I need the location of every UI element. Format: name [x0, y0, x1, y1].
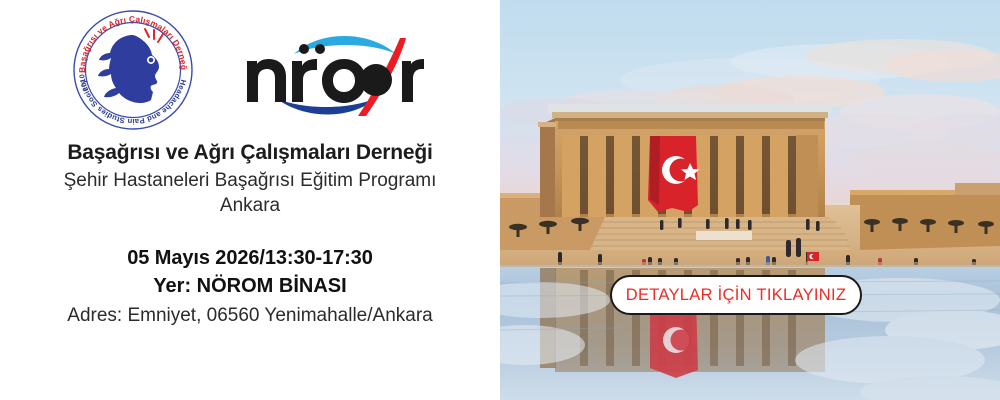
- event-datetime: 05 Mayıs 2026/13:30-17:30: [14, 244, 486, 272]
- details-cta-button[interactable]: DETAYLAR İÇİN TIKLAYINIZ: [610, 275, 862, 315]
- headache-pain-society-seal-icon: Başağrısı ve Ağrı Çalışmaları Derneği He…: [72, 9, 194, 131]
- event-venue: Yer: NÖROM BİNASI: [14, 272, 486, 300]
- event-banner: Başağrısı ve Ağrı Çalışmaları Derneği He…: [0, 0, 1000, 400]
- anitkabir-mausoleum-photo: [500, 0, 1000, 400]
- organization-name: Başağrısı ve Ağrı Çalışmaları Derneği: [14, 140, 486, 166]
- norom-logo-icon: [234, 16, 424, 124]
- city-name: Ankara: [14, 193, 486, 218]
- spacer: [14, 218, 486, 244]
- details-cta-label: DETAYLAR İÇİN TIKLAYINIZ: [626, 286, 847, 305]
- event-text-block: Başağrısı ve Ağrı Çalışmaları Derneği Şe…: [0, 140, 500, 329]
- logo-row: Başağrısı ve Ağrı Çalışmaları Derneği He…: [0, 0, 500, 140]
- program-name: Şehir Hastaneleri Başağrısı Eğitim Progr…: [14, 168, 486, 193]
- event-address: Adres: Emniyet, 06560 Yenimahalle/Ankara: [14, 303, 486, 329]
- photo-panel: DETAYLAR İÇİN TIKLAYINIZ: [500, 0, 1000, 400]
- info-panel: Başağrısı ve Ağrı Çalışmaları Derneği He…: [0, 0, 500, 400]
